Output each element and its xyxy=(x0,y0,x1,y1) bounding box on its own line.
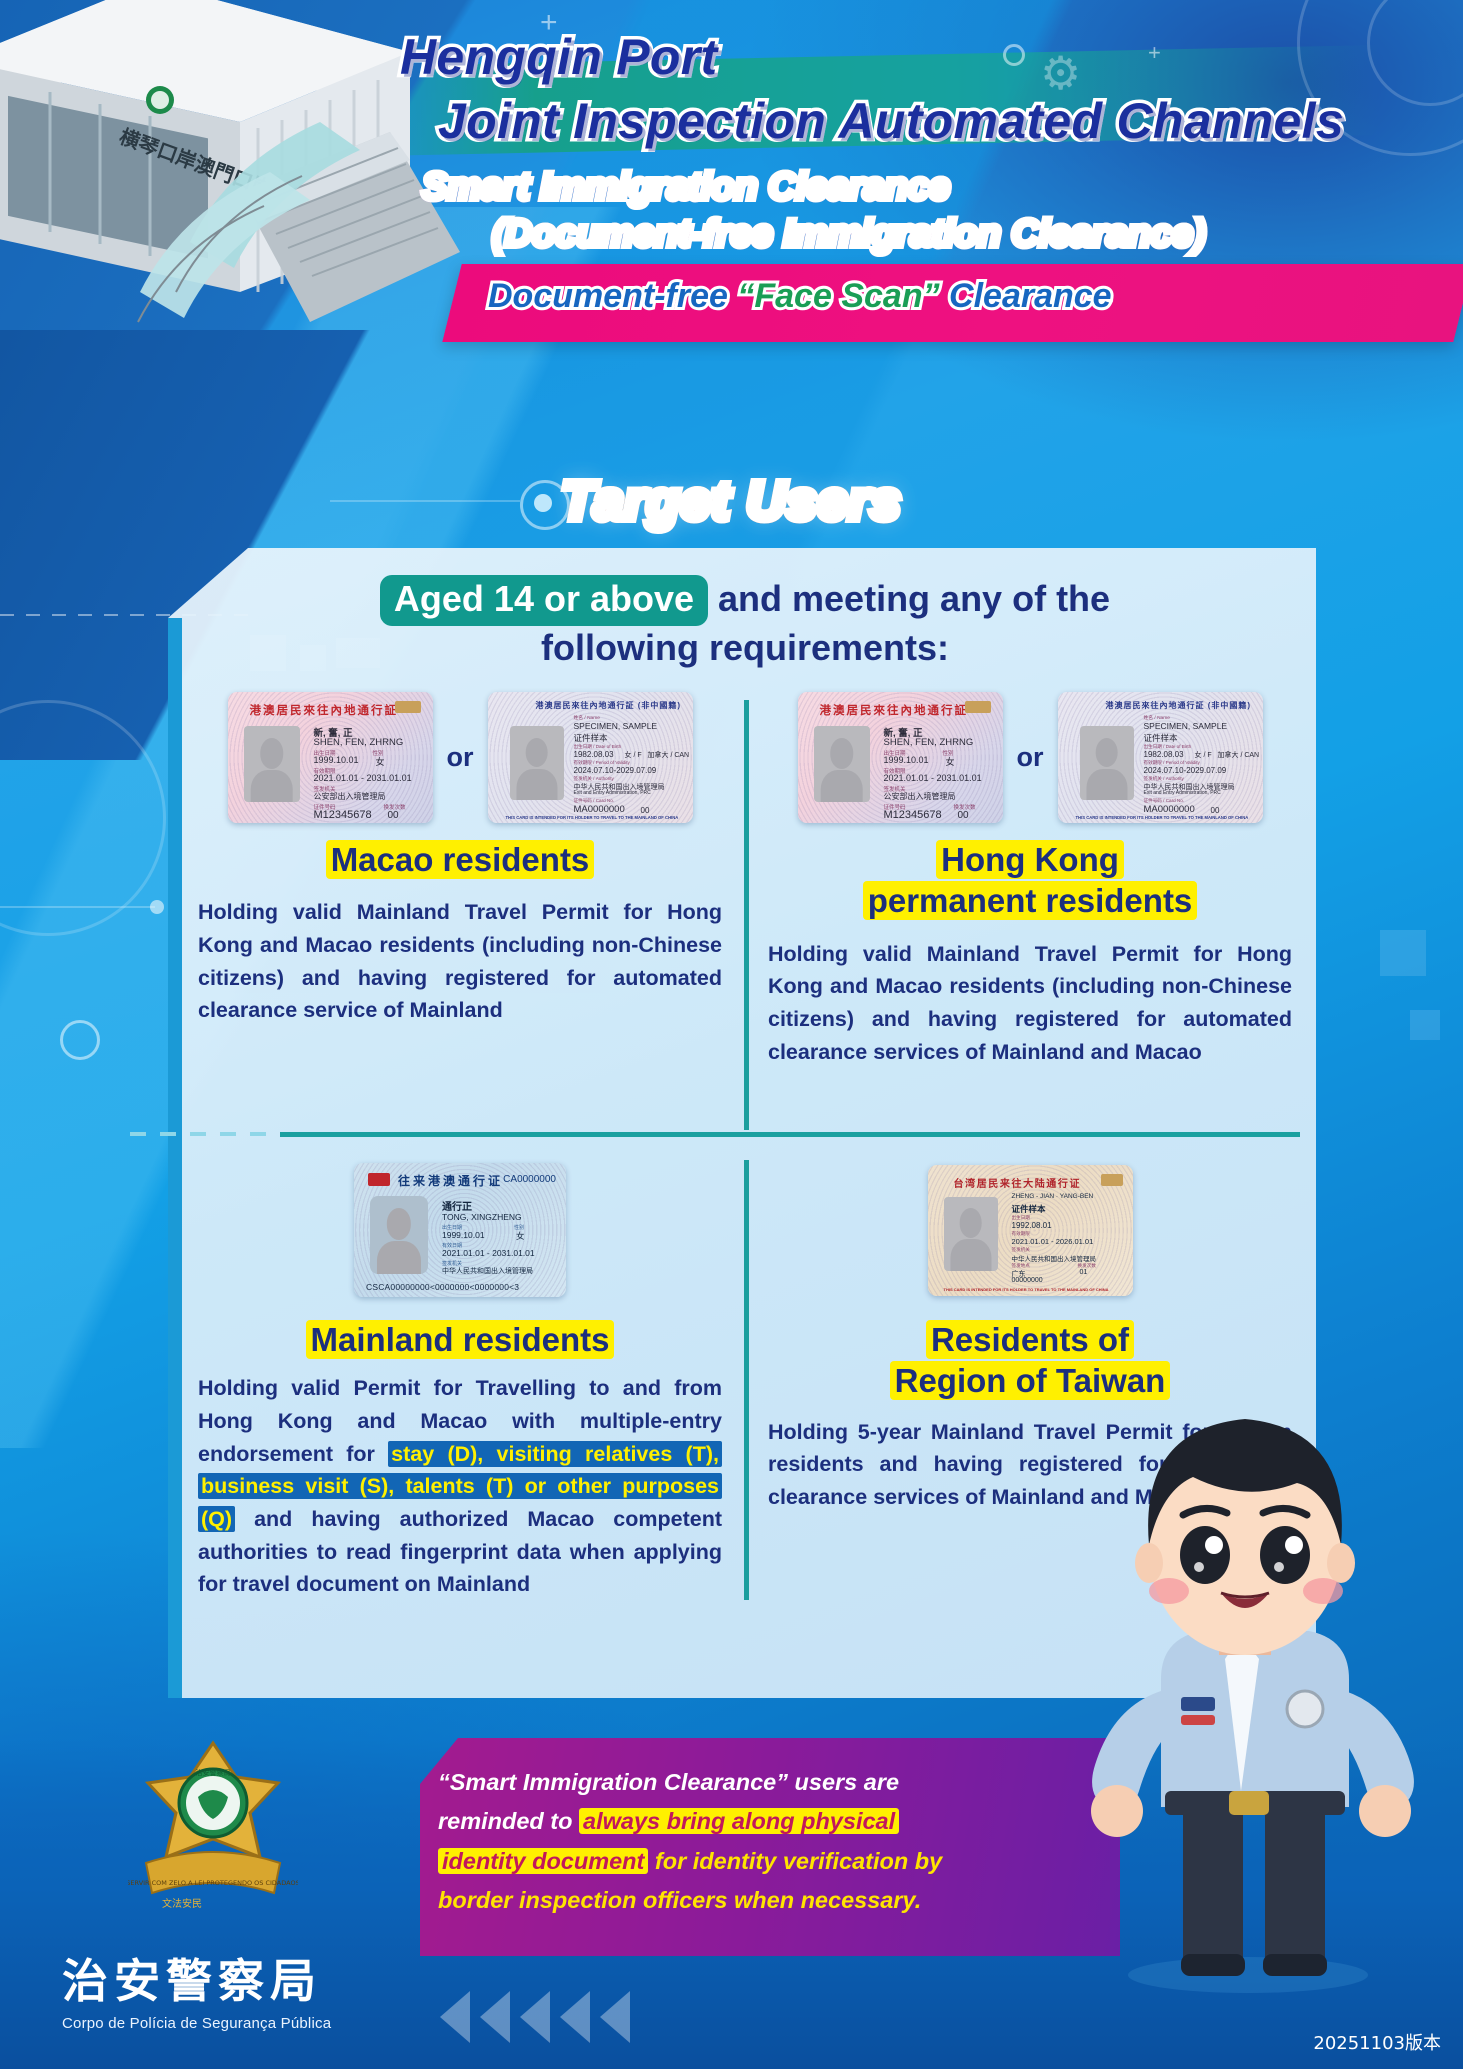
id-card-hk-mtp: 港澳居民來往內地通行証 新, 奮, 正 SHEN, FEN, ZHRNG 出生日… xyxy=(798,692,1003,823)
card-name-en: ZHENG - JIAN · YANG-BEN xyxy=(1012,1193,1094,1200)
card-title: 港澳居民來往內地通行証 (非中國籍) xyxy=(1106,700,1252,711)
card-issues: 00 xyxy=(1211,806,1220,815)
card-no: MA0000000 xyxy=(574,804,625,815)
card-no: M12345678 xyxy=(884,809,942,821)
banner-part-1: Document-free xyxy=(488,277,737,315)
card-issues: 00 xyxy=(958,810,969,821)
id-card-taiwan-permit: 台湾居民来往大陆通行证 ZHENG - JIAN · YANG-BEN 证件样本… xyxy=(928,1165,1133,1296)
card-chip xyxy=(965,701,991,713)
group-body-mainland: Holding valid Permit for Travelling to a… xyxy=(190,1372,730,1601)
group-hong-kong-permanent-residents: 港澳居民來往內地通行証 新, 奮, 正 SHEN, FEN, ZHRNG 出生日… xyxy=(760,690,1300,1068)
card-name-en: SHEN, FEN, ZHRNG xyxy=(314,737,404,748)
card-no: MA0000000 xyxy=(1144,804,1195,815)
decorative-chevrons xyxy=(440,1987,780,2047)
group-heading-hong-kong: Hong Kong permanent residents xyxy=(760,839,1300,922)
banner-part-3: Clearance xyxy=(940,277,1112,315)
hk-cards-row: 港澳居民來往內地通行証 新, 奮, 正 SHEN, FEN, ZHRNG 出生日… xyxy=(760,690,1300,825)
grid-divider-horizontal-dashed xyxy=(130,1132,280,1136)
reminder-line-2-plain: reminded to xyxy=(438,1808,579,1834)
port-building-illustration: 横琴口岸澳門口岸區 xyxy=(0,0,460,412)
mainland-cards-row: 往来港澳通行证 CA0000000 通行正 TONG, XINGZHENG 出生… xyxy=(190,1155,730,1305)
card-chip xyxy=(395,701,421,713)
title-line-2: Joint Inspection Automated Channels xyxy=(400,92,1440,150)
card-footer: THIS CARD IS INTENDED FOR ITS HOLDER TO … xyxy=(944,1287,1109,1292)
group-body-hong-kong: Holding valid Mainland Travel Permit for… xyxy=(760,938,1300,1069)
card-photo xyxy=(244,726,300,802)
reminder-line-2-highlight: always bring along physical xyxy=(579,1808,899,1834)
subtitle-line-1: Smart Immigration Clearance xyxy=(400,166,1440,209)
reminder-line-2: reminded to always bring along physical xyxy=(438,1802,1098,1841)
card-title: 港澳居民來往內地通行証 xyxy=(250,702,399,718)
card-issues: 00 xyxy=(388,810,399,821)
mainland-body-part-2: and having authorized Macao competent au… xyxy=(198,1507,722,1596)
card-issues: 00 xyxy=(641,806,650,815)
card-dob: 1999.10.01 xyxy=(442,1230,485,1240)
svg-text:文法安民: 文法安民 xyxy=(162,1897,202,1910)
card-no: 00000000 xyxy=(1012,1277,1043,1284)
or-separator-macao: or xyxy=(447,742,474,773)
group-mainland-residents: 往来港澳通行证 CA0000000 通行正 TONG, XINGZHENG 出生… xyxy=(190,1155,730,1601)
reminder-line-1: “Smart Immigration Clearance” users are xyxy=(438,1763,1098,1802)
force-name-chinese: 治安警察局 xyxy=(62,1945,392,2011)
reminder-line-4: border inspection officers when necessar… xyxy=(438,1881,1098,1920)
card-photo xyxy=(510,726,564,800)
reminder-line-3-plain: for identity verification by xyxy=(648,1848,942,1874)
svg-text:SERVIR COM ZELO A LEI PROTEGEN: SERVIR COM ZELO A LEI PROTEGENDO OS CIDA… xyxy=(128,1879,298,1887)
decorative-line-2 xyxy=(0,906,155,908)
card-name-cn: 证件样本 xyxy=(1144,732,1178,744)
section-title-target-users: Target Users xyxy=(0,470,1463,532)
or-separator-hk: or xyxy=(1017,742,1044,773)
age-pill: Aged 14 or above xyxy=(380,575,708,626)
card-no: M12345678 xyxy=(314,809,372,821)
grid-divider-vertical-top xyxy=(744,700,749,1130)
card-footer: THIS CARD IS INTENDED FOR ITS HOLDER TO … xyxy=(1076,815,1249,820)
group-heading-macao: Macao residents xyxy=(190,839,730,880)
card-validity: 2021.01.01 - 2026.01.01 xyxy=(1012,1237,1094,1246)
group-heading-mainland-label: Mainland residents xyxy=(306,1320,615,1359)
card-authority-en: Exit and Entry Administration, PRC xyxy=(574,790,651,796)
card-name-cn: 证件样本 xyxy=(574,732,608,744)
banner-part-2: “Face Scan” xyxy=(737,277,939,315)
id-card-mainland-permit: 往来港澳通行证 CA0000000 通行正 TONG, XINGZHENG 出生… xyxy=(354,1163,566,1297)
card-sex: 女 xyxy=(376,755,385,768)
chevron-icon-5 xyxy=(600,1991,630,2043)
group-heading-hk-line-2: permanent residents xyxy=(863,881,1198,920)
card-name-en: SPECIMEN, SAMPLE xyxy=(1144,721,1228,731)
force-name-portuguese: Corpo de Polícia de Segurança Pública xyxy=(62,2015,392,2032)
card-issues: 01 xyxy=(1080,1269,1088,1276)
card-dob: 1999.10.01 xyxy=(884,755,929,765)
card-dob: 1999.10.01 xyxy=(314,755,359,765)
card-authority-en: Exit and Entry Administration, PRC xyxy=(1144,790,1221,796)
card-sex: 女 xyxy=(516,1230,525,1242)
card-validity: 2024.07.10-2029.07.09 xyxy=(1144,766,1227,775)
reminder-line-3: identity document for identity verificat… xyxy=(438,1842,1098,1881)
card-mrz: CSCA00000000<0000000<0000000<3 xyxy=(366,1282,519,1292)
group-heading-mainland: Mainland residents xyxy=(190,1319,730,1360)
card-validity: 2021.01.01 - 2031.01.01 xyxy=(884,773,982,783)
card-validity: 2024.07.10-2029.07.09 xyxy=(574,766,657,775)
card-title: 港澳居民來往內地通行証 (非中國籍) xyxy=(536,700,682,711)
age-rest-text: and meeting any of the xyxy=(708,578,1110,619)
card-name-en: SHEN, FEN, ZHRNG xyxy=(884,737,974,748)
group-body-macao: Holding valid Mainland Travel Permit for… xyxy=(190,896,730,1027)
age-requirement-line: Aged 14 or above and meeting any of the … xyxy=(200,575,1290,670)
card-dob: 1982.08.03 xyxy=(1144,750,1184,759)
card-name-label: 姓名 / Name xyxy=(1144,714,1170,721)
card-footer: THIS CARD IS INTENDED FOR ITS HOLDER TO … xyxy=(506,815,679,820)
grid-divider-vertical-bottom xyxy=(744,1160,749,1600)
card-photo xyxy=(1080,726,1134,800)
chevron-icon-3 xyxy=(520,1991,550,2043)
card-authority: 中华人民共和国出入境管理局 xyxy=(1012,1253,1097,1263)
taiwan-cards-row: 台湾居民来往大陆通行证 ZHENG - JIAN · YANG-BEN 证件样本… xyxy=(760,1155,1300,1305)
card-name-en: SPECIMEN, SAMPLE xyxy=(574,721,658,731)
card-sex: 女 / F xyxy=(1195,750,1212,760)
card-sex: 女 / F xyxy=(625,750,642,760)
police-badge-logo: 治安警察局 SERVIR COM ZELO A LEI PROTEGENDO O… xyxy=(128,1735,298,1925)
panel-left-accent-bar xyxy=(168,618,182,1698)
card-title: 台湾居民来往大陆通行证 xyxy=(954,1175,1082,1190)
id-card-macao-mtp-nonchinese: 港澳居民來往內地通行証 (非中國籍) 姓名 / Name SPECIMEN, S… xyxy=(488,692,693,823)
chevron-icon-4 xyxy=(560,1991,590,2043)
card-serial: CA0000000 xyxy=(503,1174,556,1185)
title-line-1: Hengqin Port xyxy=(400,28,1440,86)
grid-divider-horizontal xyxy=(280,1132,1300,1137)
card-sex: 女 xyxy=(946,755,955,768)
card-authority: 公安部出入境管理局 xyxy=(314,791,386,802)
card-chip xyxy=(1101,1174,1123,1186)
card-validity: 2021.01.01 - 2031.01.01 xyxy=(442,1248,535,1258)
card-authority: 公安部出入境管理局 xyxy=(884,791,956,802)
version-label: 20251103版本 xyxy=(1313,2029,1441,2055)
card-photo xyxy=(370,1196,428,1274)
force-name-block: 治安警察局 Corpo de Polícia de Segurança Públ… xyxy=(62,1945,392,2032)
svg-text:治安警察局: 治安警察局 xyxy=(196,1768,231,1777)
group-heading-taiwan-line-1: Residents of xyxy=(926,1320,1134,1359)
age-line-2: following requirements: xyxy=(200,626,1290,670)
card-dob: 1992.08.01 xyxy=(1012,1221,1052,1230)
card-nationality: 加拿大 / CAN xyxy=(648,750,690,760)
subtitle-line-2: (Document-free Immigration Clearance) xyxy=(400,213,1440,256)
decorative-square-5 xyxy=(1410,1010,1440,1040)
decorative-square-4 xyxy=(1380,930,1426,976)
card-name-en: TONG, XINGZHENG xyxy=(442,1212,522,1222)
macao-cards-row: 港澳居民來往內地通行証 新, 奮, 正 SHEN, FEN, ZHRNG 出生日… xyxy=(190,690,730,825)
chevron-icon-2 xyxy=(480,1991,510,2043)
police-officer-mascot xyxy=(1033,1379,1453,1999)
reminder-message: “Smart Immigration Clearance” users are … xyxy=(438,1763,1098,1921)
card-name-cn: 证件样本 xyxy=(1012,1203,1046,1215)
face-scan-banner: Document-free “Face Scan” Clearance xyxy=(488,277,1463,316)
group-macao-residents: 港澳居民來往內地通行証 新, 奮, 正 SHEN, FEN, ZHRNG 出生日… xyxy=(190,690,730,1027)
card-nationality: 加拿大 / CAN xyxy=(1218,750,1260,760)
reminder-line-3-highlight: identity document xyxy=(438,1848,648,1874)
card-photo xyxy=(814,726,870,802)
card-validity: 2021.01.01 - 2031.01.01 xyxy=(314,773,412,783)
card-name-label: 姓名 / Name xyxy=(574,714,600,721)
decorative-circle-small-2 xyxy=(60,1020,100,1060)
header-title-block: Hengqin Port Joint Inspection Automated … xyxy=(400,28,1440,256)
group-heading-macao-label: Macao residents xyxy=(326,840,595,879)
card-dob: 1982.08.03 xyxy=(574,750,614,759)
id-card-hk-mtp-nonchinese: 港澳居民來往內地通行証 (非中國籍) 姓名 / Name SPECIMEN, S… xyxy=(1058,692,1263,823)
poster-root: + + ⚙ xyxy=(0,0,1463,2069)
card-title: 港澳居民來往內地通行証 xyxy=(820,702,969,718)
card-name-cn: 通行正 xyxy=(442,1198,472,1213)
card-emblem xyxy=(368,1173,390,1186)
card-title: 往来港澳通行证 xyxy=(398,1172,503,1189)
card-photo xyxy=(944,1197,998,1271)
chevron-icon-1 xyxy=(440,1991,470,2043)
id-card-macao-mtp: 港澳居民來往內地通行証 新, 奮, 正 SHEN, FEN, ZHRNG 出生日… xyxy=(228,692,433,823)
group-heading-hk-line-1: Hong Kong xyxy=(936,840,1124,879)
card-authority: 中华人民共和国出入境管理局 xyxy=(442,1266,533,1276)
